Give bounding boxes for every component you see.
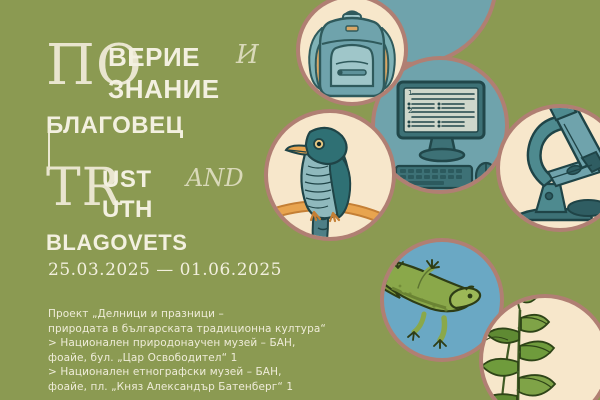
title-cyrillic-subtitle: БЛАГОВЕЦ — [46, 114, 184, 138]
title-cyrillic-conjunction: И — [236, 42, 259, 68]
title-latin: TR UST AND UTH BLAGOVETS — [46, 158, 306, 248]
description-line: > Национален етнографски музей – БАН, — [48, 365, 330, 380]
text-column: ПО ВЕРИЕ И ЗНАНИЕ БЛАГОВЕЦ TR UST AND UT… — [46, 0, 346, 400]
title-cyrillic-word-top: ВЕРИЕ — [108, 44, 200, 70]
title-latin-subtitle: BLAGOVETS — [46, 232, 187, 254]
svg-text:2: 2 — [408, 107, 412, 115]
title-latin-word-top: UST — [102, 168, 152, 192]
title-latin-word-bottom: UTH — [102, 198, 153, 222]
description-line: природата в българската традиционна култ… — [48, 322, 330, 337]
description-block: Проект „Делници и празници – природата в… — [48, 307, 330, 395]
title-latin-conjunction: AND — [186, 166, 244, 190]
title-cyrillic: ПО ВЕРИЕ И ЗНАНИЕ БЛАГОВЕЦ — [46, 32, 306, 122]
description-line: фоайе, пл. „Княз Александър Батенберг“ 1 — [48, 380, 330, 395]
description-line: фоайе, бул. „Цар Освободител“ 1 — [48, 351, 330, 366]
description-line: > Национален природонаучен музей – БАН, — [48, 336, 330, 351]
svg-text:1: 1 — [408, 89, 412, 97]
title-cyrillic-word-bottom: ЗНАНИЕ — [108, 76, 220, 102]
exhibition-date-range: 25.03.2025 — 01.06.2025 — [48, 260, 282, 280]
description-line: Проект „Делници и празници – — [48, 307, 330, 322]
poster-canvas: 1 2 — [0, 0, 600, 400]
